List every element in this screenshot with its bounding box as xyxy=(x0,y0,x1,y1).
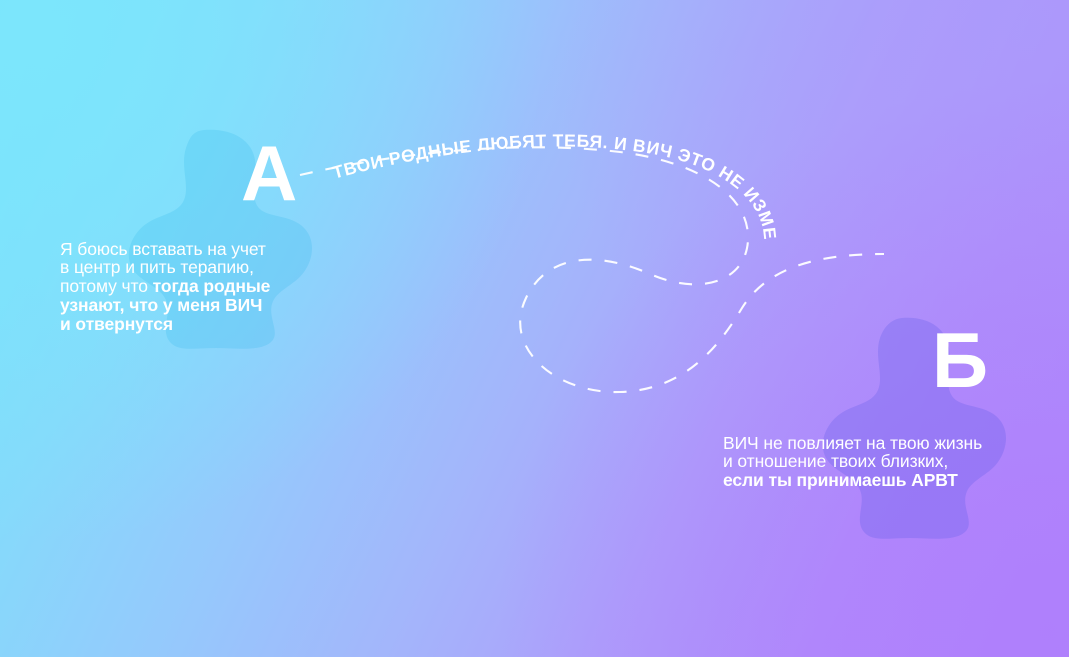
message-b-plain: ВИЧ не повлияет на твою жизнь и отношени… xyxy=(723,433,982,472)
dashed-route xyxy=(300,147,884,392)
path-headline: ТВОИ РОДНЫЕ ЛЮБЯТ ТЕБЯ. И ВИЧ ЭТО НЕ ИЗМ… xyxy=(0,0,780,241)
marker-b: Б xyxy=(932,321,987,399)
marker-a: А xyxy=(241,134,296,212)
path-headline-text: ТВОИ РОДНЫЕ ЛЮБЯТ ТЕБЯ. И ВИЧ ЭТО НЕ ИЗМ… xyxy=(0,0,780,241)
message-b: ВИЧ не повлияет на твою жизнь и отношени… xyxy=(723,415,998,490)
message-a: Я боюсь вставать на учет в центр и пить … xyxy=(60,221,320,333)
poster-canvas: ТВОИ РОДНЫЕ ЛЮБЯТ ТЕБЯ. И ВИЧ ЭТО НЕ ИЗМ… xyxy=(0,0,1069,657)
message-b-bold: если ты принимаешь АРВТ xyxy=(723,470,958,490)
